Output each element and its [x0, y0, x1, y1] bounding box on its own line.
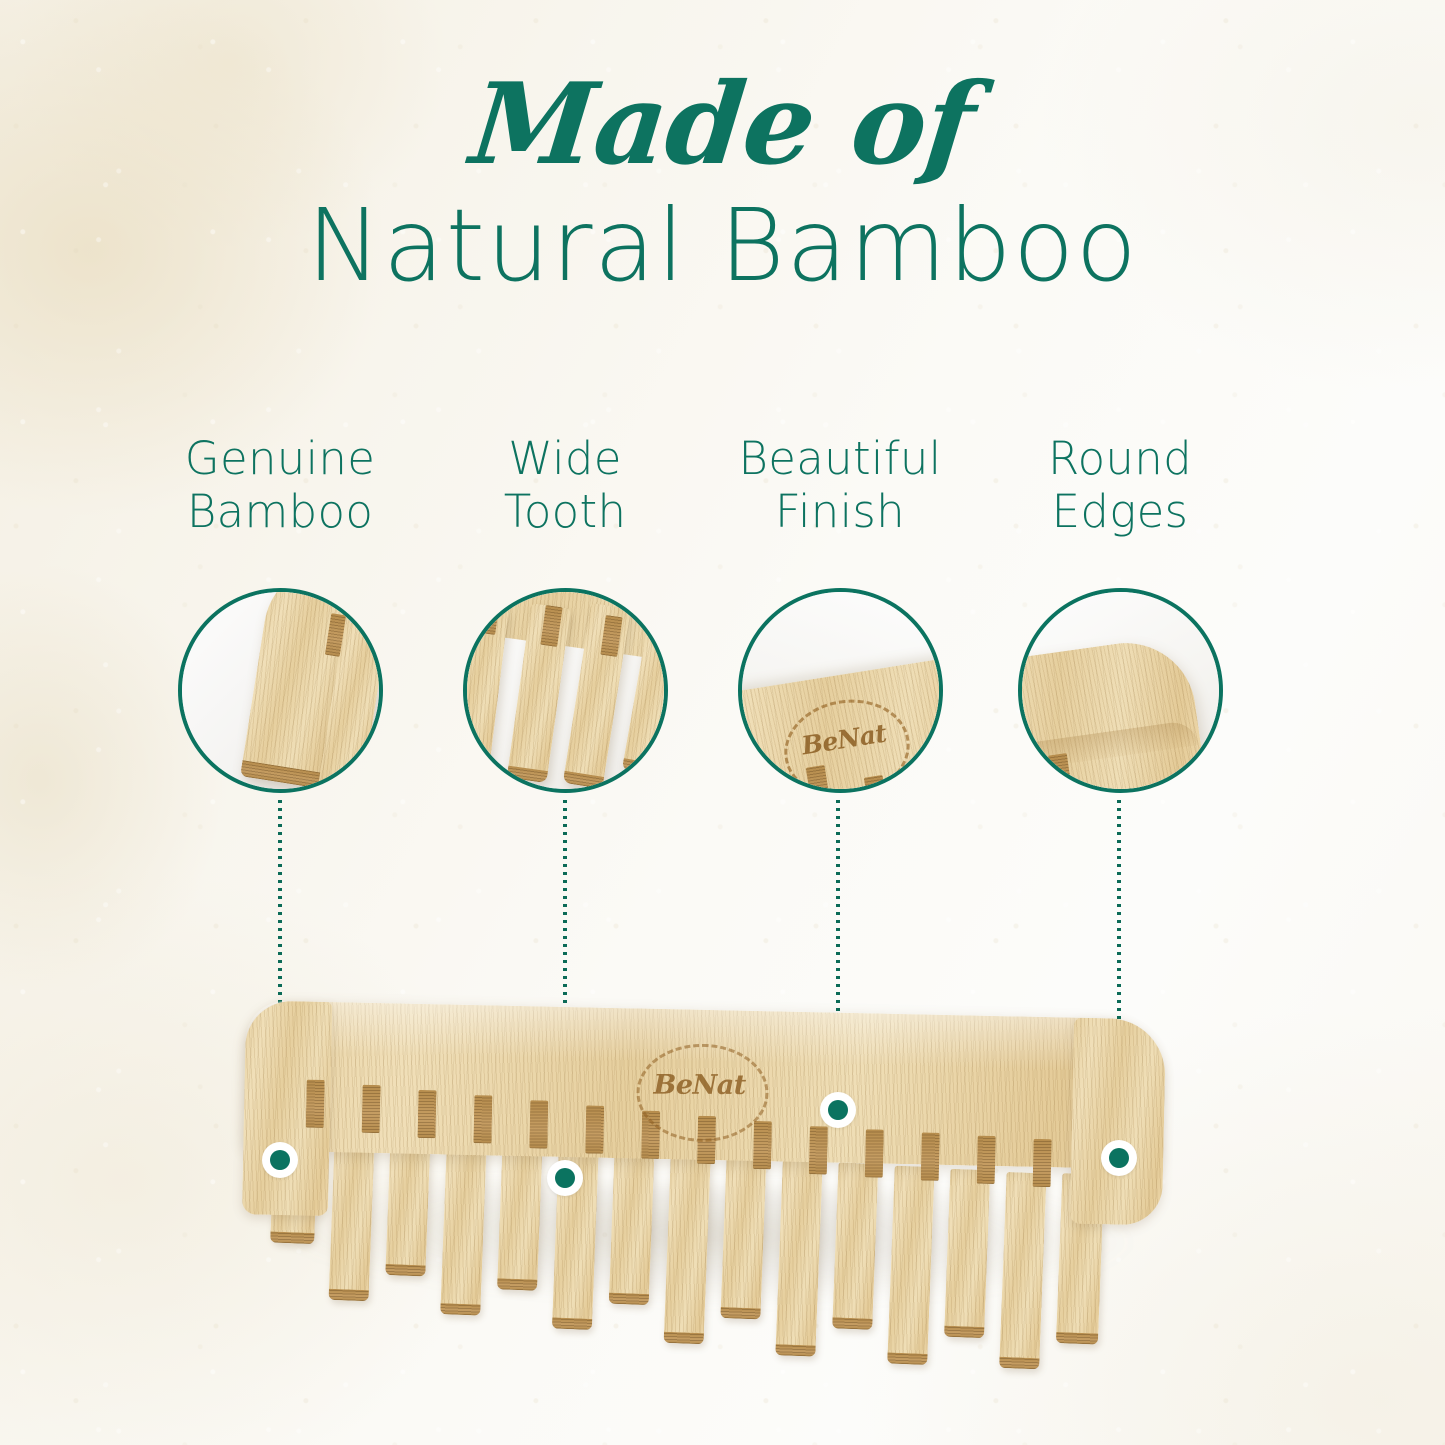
comb-tooth — [664, 1149, 711, 1344]
tooth-slot — [585, 1105, 604, 1153]
feature-label-wide-tooth: Wide Tooth — [425, 432, 705, 538]
tooth-cut-end — [317, 783, 362, 793]
feature-label-line1: Round — [980, 432, 1260, 485]
marker-dot-round-edges — [1101, 1140, 1137, 1176]
feature-label-round-edges: Round Edges — [980, 432, 1260, 538]
tooth-slot — [529, 1100, 548, 1148]
infographic-canvas: Made of Natural Bamboo Genuine Bamboo Wi… — [0, 0, 1445, 1445]
tooth-slot — [921, 1132, 940, 1180]
marker-dot-genuine-bamboo — [262, 1142, 298, 1178]
tooth-slot — [977, 1136, 996, 1184]
wide-tooth-spacing-photo — [463, 588, 668, 793]
feature-label-line1: Wide — [425, 432, 705, 485]
comb-tooth — [887, 1166, 935, 1365]
headline-subtitle: Natural Bamboo — [0, 196, 1445, 296]
callout-circle-round-edges — [1018, 588, 1223, 793]
comb-tooth — [999, 1172, 1046, 1369]
tooth-slot — [1033, 1139, 1052, 1187]
tooth-slot — [306, 1080, 325, 1128]
feature-label-line2: Finish — [700, 485, 980, 538]
comb-tooth — [440, 1128, 487, 1315]
comb-tooth — [775, 1159, 822, 1356]
feature-label-line1: Genuine — [140, 432, 420, 485]
comb-tooth — [832, 1162, 878, 1329]
tooth-slot — [362, 1085, 381, 1133]
comb-tooth — [944, 1169, 990, 1338]
callout-circle-beautiful-finish: BeNat — [738, 588, 943, 793]
product-image-bamboo-comb: BeNat — [240, 990, 1177, 1339]
brand-engraving-text: BeNat — [637, 1070, 763, 1101]
feature-label-line2: Edges — [980, 485, 1260, 538]
feature-label-line2: Bamboo — [140, 485, 420, 538]
headline-script: Made of — [0, 68, 1445, 182]
feature-label-line1: Beautiful — [700, 432, 980, 485]
tooth-slot — [865, 1129, 884, 1177]
tooth-slot — [809, 1126, 828, 1174]
comb-right-rounded-edge — [1070, 1018, 1166, 1226]
feature-label-genuine-bamboo: Genuine Bamboo — [140, 432, 420, 538]
callout-circle-genuine-bamboo — [178, 588, 383, 793]
comb-tooth — [609, 1144, 655, 1305]
feature-label-line2: Tooth — [425, 485, 705, 538]
bamboo-tooth-macro-photo — [178, 588, 383, 793]
callout-circle-wide-tooth — [463, 588, 668, 793]
marker-dot-wide-tooth — [547, 1160, 583, 1196]
comb-tooth — [497, 1133, 543, 1290]
marker-dot-beautiful-finish — [820, 1092, 856, 1128]
tooth-slot — [473, 1095, 492, 1143]
feature-labels: Genuine Bamboo Wide Tooth Beautiful Fini… — [0, 432, 1445, 552]
rounded-corner-photo — [1018, 588, 1223, 793]
engraved-logo-finish-photo: BeNat — [738, 588, 943, 793]
feature-label-beautiful-finish: Beautiful Finish — [700, 432, 980, 538]
comb-tooth — [720, 1154, 766, 1319]
tooth-slot — [418, 1090, 437, 1138]
tooth-slot — [753, 1121, 772, 1169]
